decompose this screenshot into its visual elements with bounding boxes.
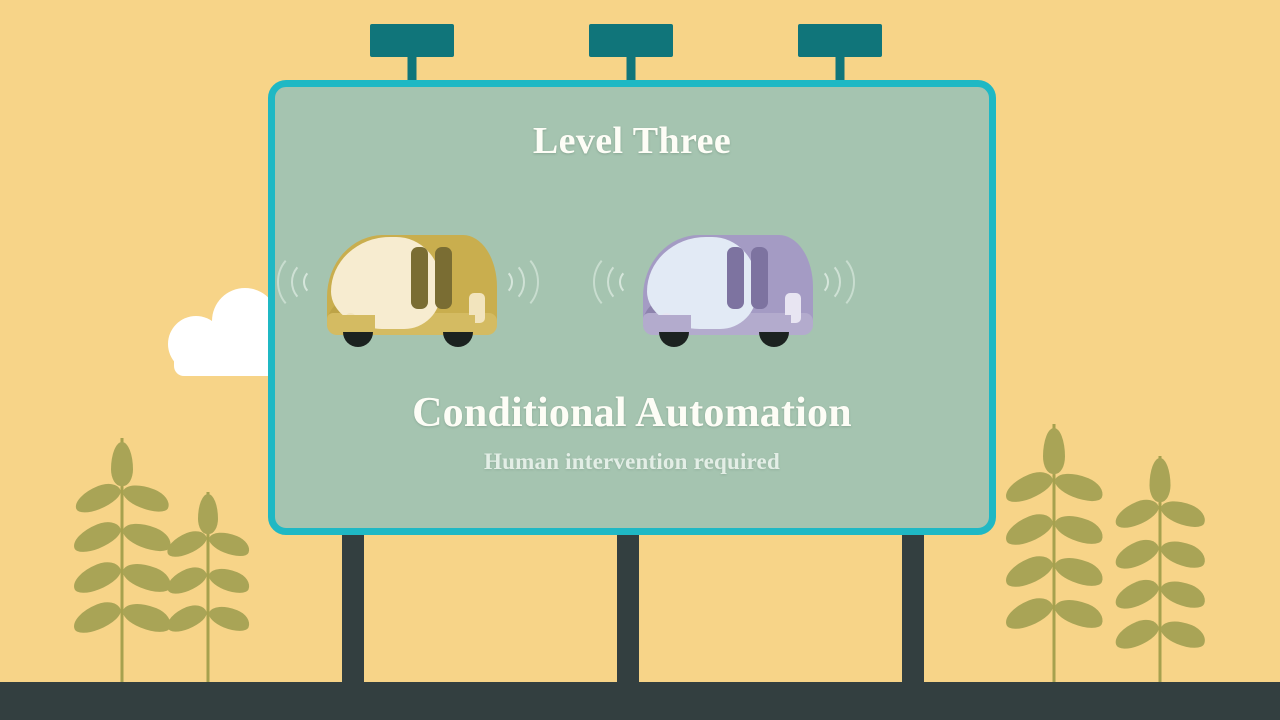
plant-leaf-tip (198, 494, 218, 534)
signal-waves-left (273, 249, 317, 315)
lamp-head (370, 24, 454, 57)
billboard-panel[interactable]: Level Three (268, 80, 996, 535)
car-side-window (411, 247, 428, 309)
plant-leaf (163, 563, 210, 598)
plant-leaf (1158, 535, 1209, 574)
ground (0, 682, 1280, 720)
lamp-right (798, 24, 882, 84)
car-side-window (727, 247, 744, 309)
signal-waves-right (495, 249, 543, 315)
plant-leaf (1052, 467, 1107, 507)
signal-waves-right (811, 249, 859, 315)
billboard-headline: Conditional Automation (275, 389, 989, 437)
plant-leaf (69, 557, 124, 598)
plant-left-short (160, 492, 256, 682)
lamp-left (370, 24, 454, 84)
plant-leaf (1158, 495, 1209, 533)
wave-arc (277, 252, 327, 312)
plant-leaf (1052, 551, 1107, 592)
plant-leaf (1111, 535, 1162, 574)
purple-autonomous-car[interactable] (633, 217, 813, 352)
plant-right-short (1108, 456, 1212, 682)
billboard-subtitle: Human intervention required (275, 449, 989, 475)
car-wheel-mask (757, 315, 791, 332)
plant-leaf (69, 517, 124, 557)
plant-leaf-tip (1043, 428, 1065, 474)
plant-leaf (1001, 551, 1056, 592)
plant-leaf (1052, 509, 1107, 550)
plant-leaf-tip (111, 442, 133, 486)
car-wheel-mask (441, 315, 475, 332)
car-side-window (435, 247, 452, 309)
wave-arc (593, 252, 643, 312)
plant-leaf (1158, 575, 1209, 614)
lamp-head (589, 24, 673, 57)
plant-leaf (69, 597, 124, 638)
plant-leaf (1001, 593, 1056, 634)
car-wheel-mask (657, 315, 691, 332)
plant-leaf (206, 601, 253, 636)
lamp-head (798, 24, 882, 57)
plant-leaf (206, 563, 253, 598)
plant-leaf (1052, 593, 1107, 634)
lamp-center (589, 24, 673, 84)
support-leg-right (902, 534, 924, 682)
car-wheel-mask (341, 315, 375, 332)
car-side-window (751, 247, 768, 309)
plant-right-tall (1000, 424, 1108, 682)
wave-arc (805, 252, 855, 312)
yellow-autonomous-car[interactable] (317, 217, 497, 352)
plant-leaf (163, 601, 210, 636)
support-leg-center (617, 534, 639, 682)
billboard-title: Level Three (275, 119, 989, 163)
signal-waves-left (589, 249, 633, 315)
plant-leaf (1001, 467, 1056, 507)
plant-leaf (1158, 615, 1209, 654)
wave-arc (489, 252, 539, 312)
plant-leaf (1111, 575, 1162, 614)
support-leg-left (342, 534, 364, 682)
scene-root: Level Three (0, 0, 1280, 720)
plant-leaf-tip (1150, 458, 1171, 502)
plant-leaf (1111, 615, 1162, 654)
plant-leaf (1001, 509, 1056, 550)
